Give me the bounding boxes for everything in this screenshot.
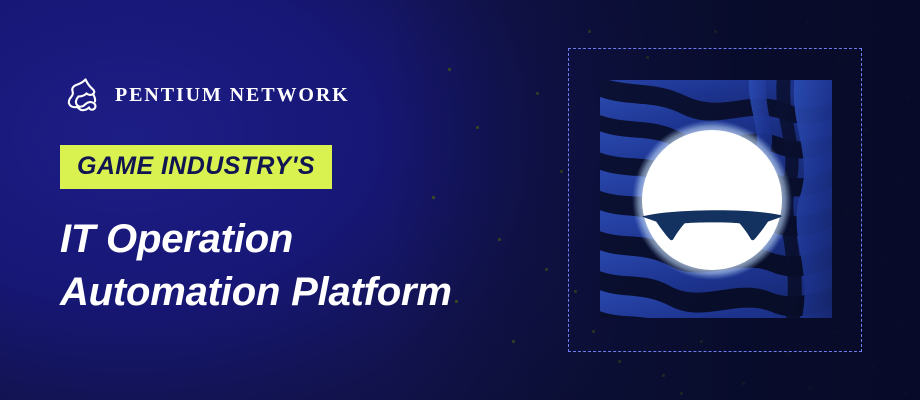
speckle-dot bbox=[742, 382, 745, 385]
speckle-dot bbox=[900, 322, 903, 325]
speckle-dot bbox=[512, 340, 515, 343]
speckle-dot bbox=[884, 258, 887, 261]
banner-content: PENTIUM NETWORK GAME INDUSTRY'S IT Opera… bbox=[60, 72, 560, 319]
speckle-dot bbox=[588, 30, 591, 33]
speckle-dot bbox=[906, 96, 909, 99]
promo-banner: PENTIUM NETWORK GAME INDUSTRY'S IT Opera… bbox=[0, 0, 920, 400]
speckle-dot bbox=[662, 374, 665, 377]
speckle-dot bbox=[808, 386, 811, 389]
headline-line-2: Automation Platform bbox=[60, 266, 560, 319]
hero-graphic bbox=[600, 80, 832, 318]
brand-lockup: PENTIUM NETWORK bbox=[60, 72, 560, 118]
headline-line-1: IT Operation bbox=[60, 213, 560, 266]
brand-name-text: PENTIUM NETWORK bbox=[115, 84, 350, 107]
speckle-dot bbox=[904, 392, 907, 395]
speckle-dot bbox=[806, 20, 809, 23]
eyebrow-badge: GAME INDUSTRY'S bbox=[60, 145, 332, 189]
speckle-dot bbox=[448, 68, 451, 71]
speckle-dot bbox=[786, 352, 789, 355]
speckle-dot bbox=[618, 360, 621, 363]
speckle-dot bbox=[714, 30, 717, 33]
speckle-dot bbox=[560, 170, 563, 173]
speckle-dot bbox=[864, 128, 867, 131]
speckle-dot bbox=[680, 392, 683, 395]
page-title: IT Operation Automation Platform bbox=[60, 213, 560, 319]
speckle-dot bbox=[878, 24, 881, 27]
speckle-dot bbox=[900, 178, 903, 181]
pentium-horse-logo-icon bbox=[60, 74, 102, 116]
speckle-dot bbox=[872, 366, 875, 369]
